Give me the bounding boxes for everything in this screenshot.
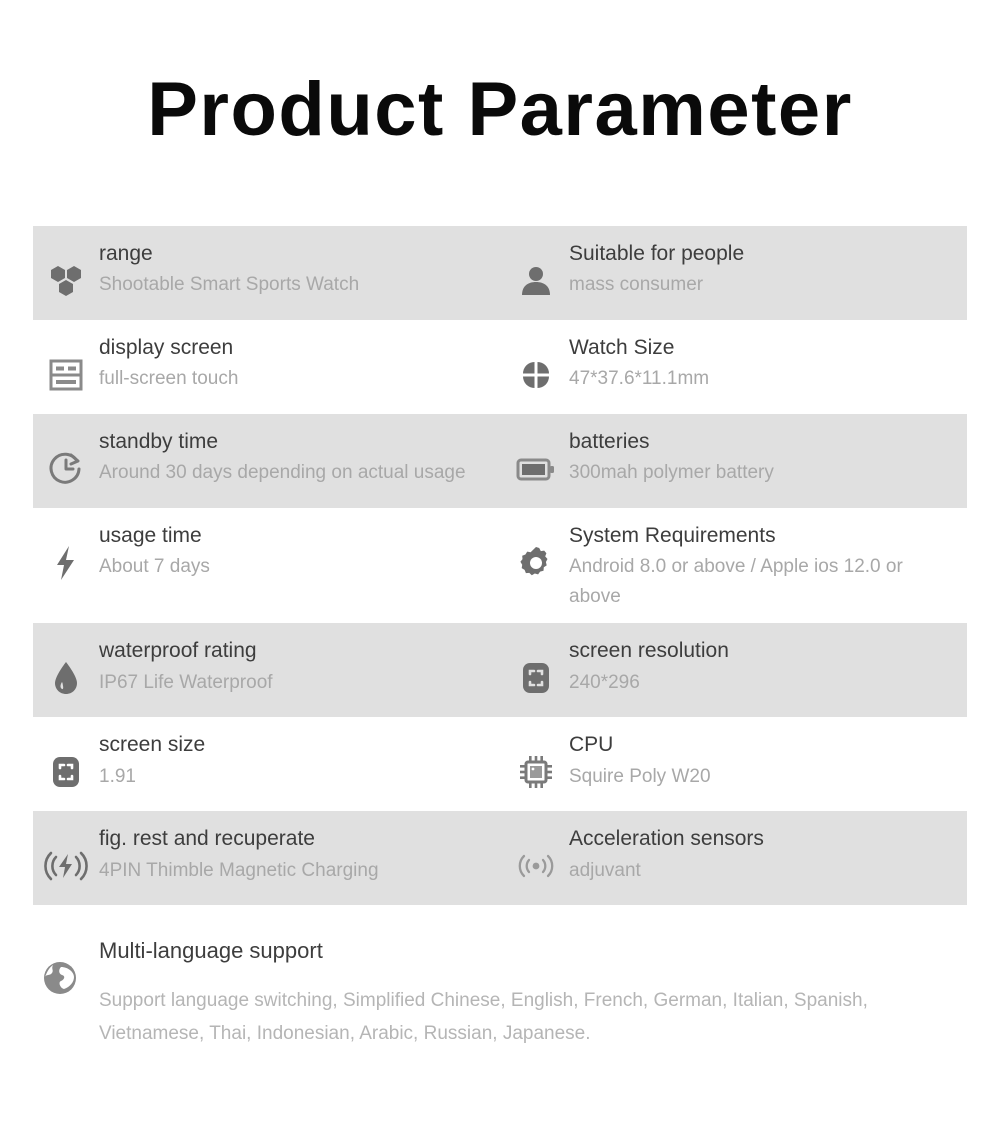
multi-language-section: Multi-language support Support language …	[33, 905, 967, 1050]
spec-cell-cpu: CPU Squire Poly W20	[503, 717, 967, 811]
spec-value: Android 8.0 or above / Apple ios 12.0 or…	[569, 552, 919, 611]
spec-table: range Shootable Smart Sports Watch Suita…	[33, 226, 967, 905]
spec-label: screen size	[99, 731, 205, 759]
spec-cell-acceleration-sensors: Acceleration sensors adjuvant	[503, 811, 967, 905]
table-row: fig. rest and recuperate 4PIN Thimble Ma…	[33, 811, 967, 905]
spec-text: waterproof rating IP67 Life Waterproof	[93, 635, 273, 697]
spec-value: 240*296	[569, 668, 729, 697]
spec-text: display screen full-screen touch	[93, 332, 238, 394]
spec-cell-screen-size: screen size 1.91	[33, 717, 503, 811]
multi-language-description: Support language switching, Simplified C…	[99, 984, 959, 1051]
spec-cell-batteries: batteries 300mah polymer battery	[503, 414, 967, 508]
four-petal-icon	[509, 348, 563, 402]
signal-waves-icon	[509, 839, 563, 893]
spec-cell-charging: fig. rest and recuperate 4PIN Thimble Ma…	[33, 811, 503, 905]
spec-label: screen resolution	[569, 637, 729, 665]
spec-label: fig. rest and recuperate	[99, 825, 379, 853]
spec-label: display screen	[99, 334, 238, 362]
cpu-chip-icon	[509, 745, 563, 799]
spec-text: CPU Squire Poly W20	[563, 729, 711, 791]
spec-label: Suitable for people	[569, 240, 744, 268]
spec-value: Shootable Smart Sports Watch	[99, 270, 359, 299]
multi-language-title: Multi-language support	[99, 937, 959, 966]
battery-icon	[509, 442, 563, 496]
table-row: usage time About 7 days System Requireme…	[33, 508, 967, 623]
spec-value: 300mah polymer battery	[569, 458, 774, 487]
spec-value: 47*37.6*11.1mm	[569, 364, 709, 393]
spec-text: batteries 300mah polymer battery	[563, 426, 774, 488]
clock-refresh-icon	[39, 442, 93, 496]
multi-language-text: Multi-language support Support language …	[87, 937, 959, 1050]
spec-value: About 7 days	[99, 552, 210, 581]
display-screen-icon	[39, 348, 93, 402]
product-parameter-page: Product Parameter range Shootable Smart …	[0, 0, 1000, 1131]
screen-corners-icon	[39, 745, 93, 799]
spec-value: IP67 Life Waterproof	[99, 668, 273, 697]
spec-text: standby time Around 30 days depending on…	[93, 426, 466, 488]
spec-label: batteries	[569, 428, 774, 456]
water-droplet-icon	[39, 651, 93, 705]
table-row: standby time Around 30 days depending on…	[33, 414, 967, 508]
spec-text: Acceleration sensors adjuvant	[563, 823, 764, 885]
page-title: Product Parameter	[0, 0, 1000, 148]
spec-text: Watch Size 47*37.6*11.1mm	[563, 332, 709, 394]
spec-label: range	[99, 240, 359, 268]
spec-label: Watch Size	[569, 334, 709, 362]
spec-cell-standby-time: standby time Around 30 days depending on…	[33, 414, 503, 508]
spec-text: usage time About 7 days	[93, 520, 210, 582]
spec-value: Around 30 days depending on actual usage	[99, 458, 466, 487]
spec-text: Suitable for people mass consumer	[563, 238, 744, 300]
spec-cell-range: range Shootable Smart Sports Watch	[33, 226, 503, 320]
spec-value: 1.91	[99, 762, 205, 791]
table-row: waterproof rating IP67 Life Waterproof s…	[33, 623, 967, 717]
spec-text: fig. rest and recuperate 4PIN Thimble Ma…	[93, 823, 379, 885]
spec-value: adjuvant	[569, 856, 764, 885]
globe-icon	[33, 951, 87, 1005]
spec-value: mass consumer	[569, 270, 744, 299]
spec-cell-usage-time: usage time About 7 days	[33, 508, 503, 623]
spec-value: full-screen touch	[99, 364, 238, 393]
hexagon-cluster-icon	[39, 254, 93, 308]
wireless-charging-icon	[39, 839, 93, 893]
spec-cell-system-requirements: System Requirements Android 8.0 or above…	[503, 508, 967, 623]
spec-cell-screen-resolution: screen resolution 240*296	[503, 623, 967, 717]
spec-label: usage time	[99, 522, 210, 550]
spec-value: 4PIN Thimble Magnetic Charging	[99, 856, 379, 885]
table-row: screen size 1.91	[33, 717, 967, 811]
spec-cell-suitable-for-people: Suitable for people mass consumer	[503, 226, 967, 320]
screen-corners-icon	[509, 651, 563, 705]
table-row: range Shootable Smart Sports Watch Suita…	[33, 226, 967, 320]
lightning-bolt-icon	[39, 536, 93, 590]
person-icon	[509, 254, 563, 308]
spec-text: screen resolution 240*296	[563, 635, 729, 697]
spec-label: standby time	[99, 428, 466, 456]
spec-cell-waterproof-rating: waterproof rating IP67 Life Waterproof	[33, 623, 503, 717]
spec-text: screen size 1.91	[93, 729, 205, 791]
spec-label: waterproof rating	[99, 637, 273, 665]
spec-text: System Requirements Android 8.0 or above…	[563, 520, 919, 611]
spec-label: System Requirements	[569, 522, 919, 550]
spec-cell-watch-size: Watch Size 47*37.6*11.1mm	[503, 320, 967, 414]
spec-cell-display-screen: display screen full-screen touch	[33, 320, 503, 414]
spec-label: Acceleration sensors	[569, 825, 764, 853]
table-row: display screen full-screen touch Watch S…	[33, 320, 967, 414]
gear-icon	[509, 536, 563, 590]
spec-text: range Shootable Smart Sports Watch	[93, 238, 359, 300]
spec-label: CPU	[569, 731, 711, 759]
spec-value: Squire Poly W20	[569, 762, 711, 791]
